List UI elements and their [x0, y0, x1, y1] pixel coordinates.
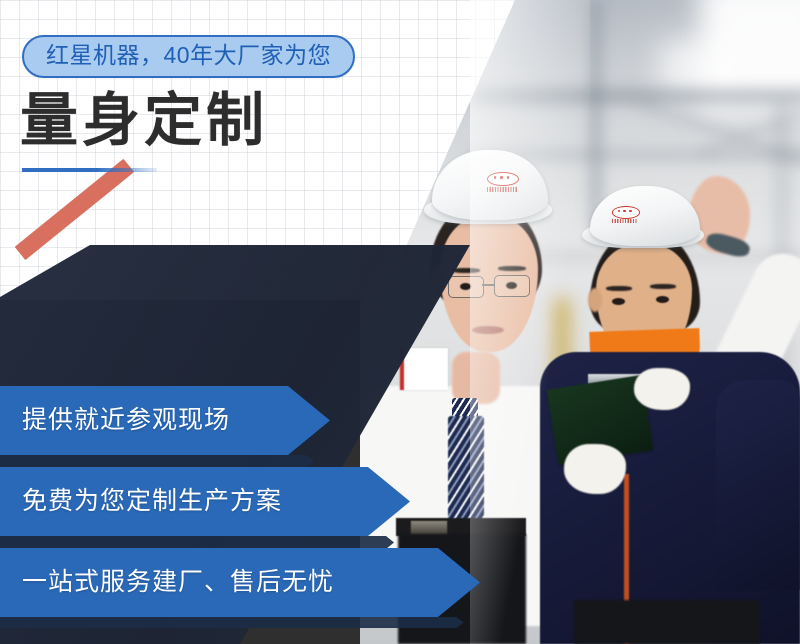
- promo-banner: 红星机器，40年大厂家为您 量身定制 提供就近参观现场 免费为您定制生产方案 一…: [0, 0, 800, 644]
- feature-bar-3[interactable]: 一站式服务建厂、售后无忧: [0, 548, 480, 617]
- feature-bar-shadow-2: [0, 536, 394, 549]
- feature-bar-3-label: 一站式服务建厂、售后无忧: [0, 570, 334, 595]
- feature-bar-1[interactable]: 提供就近参观现场: [0, 386, 330, 455]
- feature-bar-shadow-1: [0, 455, 314, 468]
- feature-bar-2[interactable]: 免费为您定制生产方案: [0, 467, 410, 536]
- feature-bar-1-label: 提供就近参观现场: [0, 408, 230, 433]
- feature-bar-list: 提供就近参观现场 免费为您定制生产方案 一站式服务建厂、售后无忧: [0, 0, 800, 644]
- feature-bar-shadow-3: [0, 617, 464, 628]
- feature-bar-2-label: 免费为您定制生产方案: [0, 489, 282, 514]
